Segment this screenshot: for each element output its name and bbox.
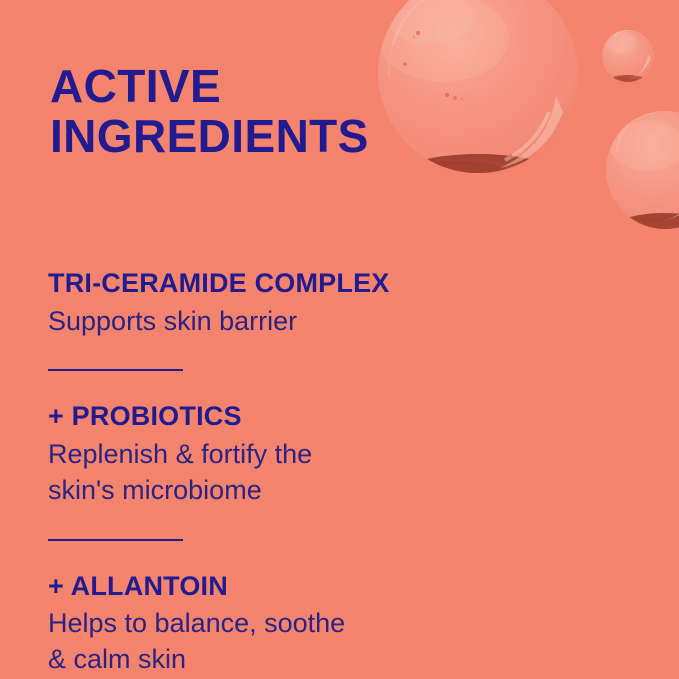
- gel-droplet-medium-icon: [606, 111, 679, 253]
- gel-droplet-large-icon: [377, 0, 578, 218]
- ingredient-name: + PROBIOTICS: [48, 401, 518, 433]
- spacer: [48, 339, 518, 369]
- spacer: [48, 509, 518, 539]
- gel-droplet-small-icon: [602, 30, 654, 95]
- ingredient-description: Supports skin barrier: [48, 304, 518, 340]
- spacer: [48, 371, 518, 401]
- list-item: TRI-CERAMIDE COMPLEX Supports skin barri…: [48, 268, 518, 339]
- ingredient-list: TRI-CERAMIDE COMPLEX Supports skin barri…: [48, 268, 518, 678]
- ingredient-description: Replenish & fortify the skin's microbiom…: [48, 437, 518, 508]
- ingredient-description: Helps to balance, soothe & calm skin: [48, 606, 518, 677]
- ingredient-name: TRI-CERAMIDE COMPLEX: [48, 268, 518, 300]
- list-item: + ALLANTOIN Helps to balance, soothe & c…: [48, 571, 518, 678]
- page-title: ACTIVE INGREDIENTS: [50, 62, 369, 161]
- active-ingredients-card: ACTIVE INGREDIENTS TRI-CERAMIDE COMPLEX …: [0, 0, 679, 679]
- spacer: [48, 541, 518, 571]
- list-item: + PROBIOTICS Replenish & fortify the ski…: [48, 401, 518, 508]
- ingredient-name: + ALLANTOIN: [48, 571, 518, 603]
